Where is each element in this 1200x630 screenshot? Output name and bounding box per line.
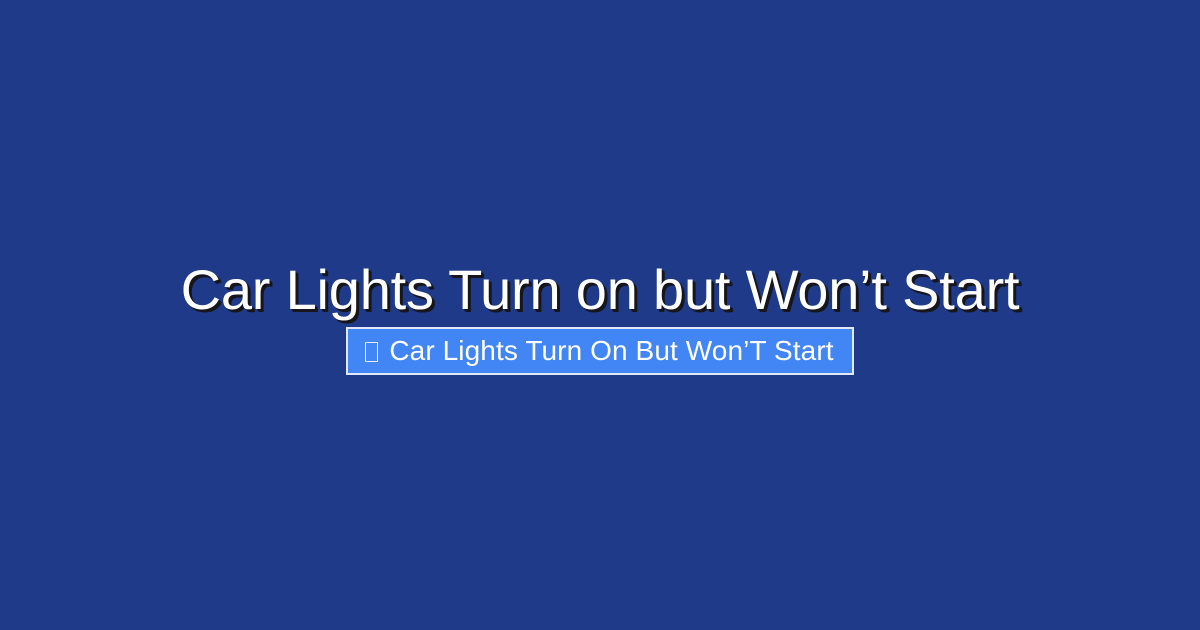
article-link-label: Car Lights Turn On But Won’T Start xyxy=(389,335,833,367)
missing-glyph-box-icon xyxy=(365,342,378,362)
page-title: Car Lights Turn on but Won’t Start xyxy=(181,262,1020,318)
article-link-button[interactable]: Car Lights Turn On But Won’T Start xyxy=(346,327,853,375)
badge-container: Car Lights Turn On But Won’T Start xyxy=(0,327,1200,375)
og-card-canvas: Car Lights Turn on but Won’t Start Car L… xyxy=(0,0,1200,630)
